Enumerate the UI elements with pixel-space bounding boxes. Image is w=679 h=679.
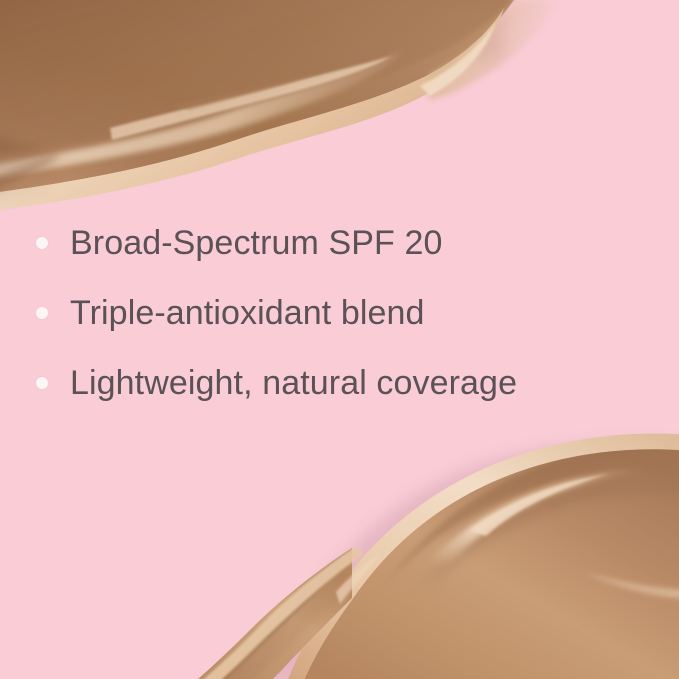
list-item: Lightweight, natural coverage [36,348,666,418]
bullet-dot-icon [36,307,48,319]
list-item: Broad-Spectrum SPF 20 [36,208,666,278]
benefit-label: Broad-Spectrum SPF 20 [70,226,442,260]
benefit-label: Triple-antioxidant blend [70,296,425,330]
bullet-dot-icon [36,237,48,249]
benefit-label: Lightweight, natural coverage [70,366,517,400]
bullet-dot-icon [36,377,48,389]
benefits-list: Broad-Spectrum SPF 20 Triple-antioxidant… [36,208,666,418]
product-benefits-image: Broad-Spectrum SPF 20 Triple-antioxidant… [0,0,679,679]
list-item: Triple-antioxidant blend [36,278,666,348]
